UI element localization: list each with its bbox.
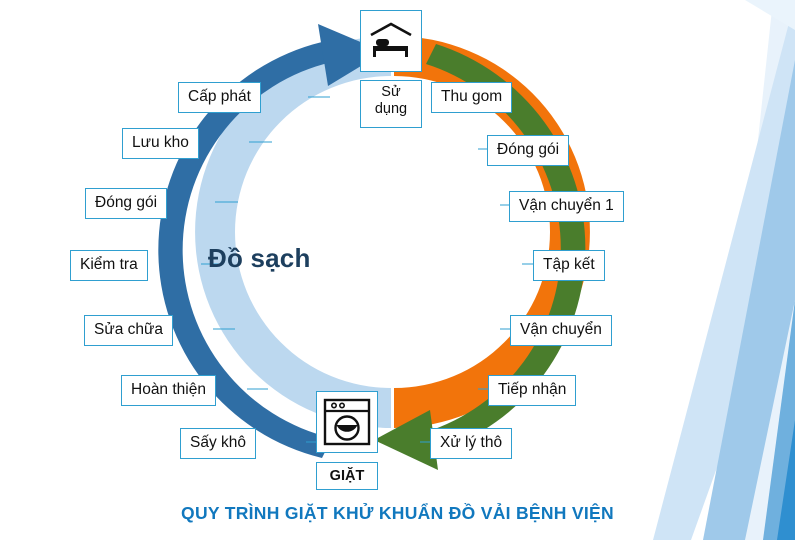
node-kiem-tra[interactable]: Kiểm tra	[70, 250, 148, 281]
node-luu-kho[interactable]: Lưu kho	[122, 128, 199, 159]
node-dong-goi-left[interactable]: Đóng gói	[85, 188, 167, 219]
node-say-kho[interactable]: Sấy khô	[180, 428, 256, 459]
wash-node-caption: GIẶT	[316, 462, 378, 490]
node-dong-goi-right[interactable]: Đóng gói	[487, 135, 569, 166]
node-van-chuyen[interactable]: Vận chuyển	[510, 315, 612, 346]
node-xu-ly-tho[interactable]: Xử lý thô	[430, 428, 512, 459]
dirty-half-label: Đồ bẩn	[427, 243, 516, 274]
node-thu-gom[interactable]: Thu gom	[431, 82, 512, 113]
node-tap-ket[interactable]: Tập kết	[533, 250, 605, 281]
washing-machine-icon	[316, 391, 378, 453]
washing-machine-icon-svg	[322, 398, 372, 446]
node-tiep-nhan[interactable]: Tiếp nhận	[488, 375, 576, 406]
clean-half-label: Đồ sạch	[208, 243, 311, 274]
use-node-caption: Sử dụng	[360, 80, 422, 128]
node-van-chuyen-1[interactable]: Vận chuyển 1	[509, 191, 624, 222]
node-hoan-thien[interactable]: Hoàn thiện	[121, 375, 216, 406]
node-sua-chua[interactable]: Sửa chữa	[84, 315, 173, 346]
node-cap-phat[interactable]: Cấp phát	[178, 82, 261, 113]
bed-icon-svg	[367, 21, 415, 61]
slide-canvas: Đồ sạch Đồ bẩn Sử dụng GIẶT Cấp phát Lưu…	[0, 0, 795, 540]
bed-icon	[360, 10, 422, 72]
page-title: QUY TRÌNH GIẶT KHỬ KHUẨN ĐỒ VẢI BỆNH VIỆ…	[0, 503, 795, 524]
